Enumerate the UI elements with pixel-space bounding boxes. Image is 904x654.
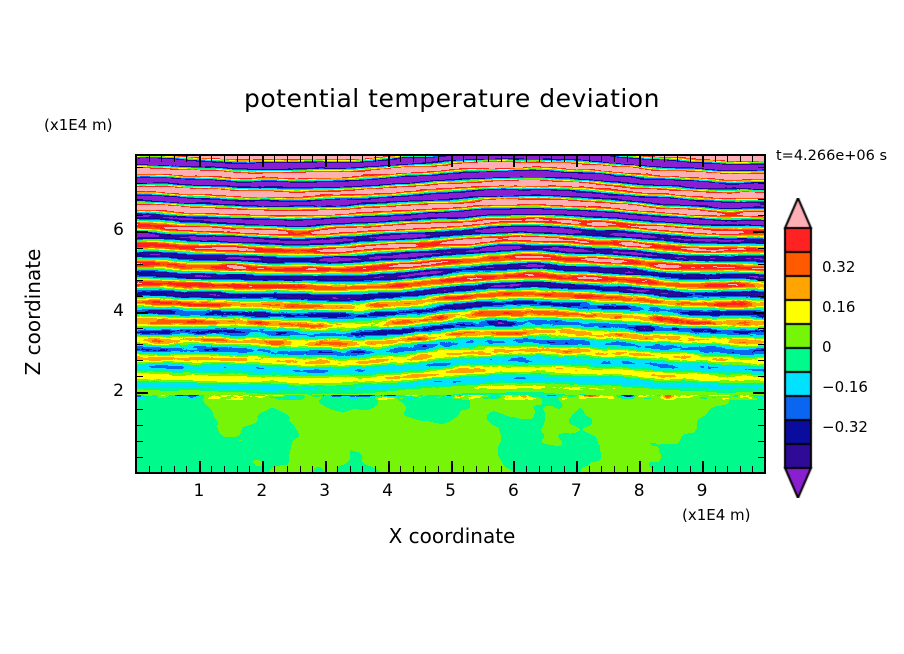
tick-mark bbox=[375, 155, 376, 162]
tick-mark bbox=[237, 466, 238, 473]
tick-mark bbox=[702, 155, 704, 167]
tick-mark bbox=[740, 466, 741, 473]
y-tick-label: 4 bbox=[94, 301, 124, 321]
x-tick-label: 7 bbox=[561, 481, 591, 501]
scalar-field-image bbox=[136, 155, 765, 473]
tick-mark bbox=[312, 155, 313, 162]
tick-mark bbox=[375, 466, 376, 473]
tick-mark bbox=[136, 312, 148, 314]
tick-mark bbox=[614, 155, 615, 162]
tick-mark bbox=[136, 344, 143, 345]
tick-mark bbox=[758, 248, 765, 249]
tick-mark bbox=[136, 183, 143, 184]
tick-mark bbox=[362, 466, 363, 473]
x-tick-label: 4 bbox=[373, 481, 403, 501]
x-axis-title: X coordinate bbox=[0, 524, 904, 548]
tick-mark bbox=[752, 466, 753, 473]
tick-mark bbox=[136, 409, 143, 410]
tick-mark bbox=[136, 473, 143, 474]
tick-mark bbox=[652, 155, 653, 162]
tick-mark bbox=[601, 155, 602, 162]
tick-mark bbox=[753, 231, 765, 233]
tick-mark bbox=[438, 466, 439, 473]
tick-mark bbox=[758, 328, 765, 329]
tick-mark bbox=[350, 155, 351, 162]
tick-mark bbox=[199, 461, 201, 473]
tick-mark bbox=[539, 155, 540, 162]
tick-mark bbox=[199, 155, 201, 167]
tick-mark bbox=[740, 155, 741, 162]
tick-mark bbox=[576, 461, 578, 473]
tick-mark bbox=[136, 248, 143, 249]
tick-mark bbox=[758, 167, 765, 168]
tick-mark bbox=[765, 466, 766, 473]
tick-mark bbox=[413, 466, 414, 473]
tick-mark bbox=[262, 155, 264, 167]
tick-mark bbox=[136, 466, 137, 473]
y-axis-title: Z coordinate bbox=[21, 232, 45, 392]
tick-mark bbox=[758, 441, 765, 442]
tick-mark bbox=[690, 155, 691, 162]
x-tick-label: 8 bbox=[624, 481, 654, 501]
tick-mark bbox=[161, 466, 162, 473]
tick-mark bbox=[614, 466, 615, 473]
tick-mark bbox=[136, 441, 143, 442]
tick-mark bbox=[136, 392, 148, 394]
tick-mark bbox=[174, 466, 175, 473]
tick-mark bbox=[337, 466, 338, 473]
tick-mark bbox=[136, 296, 143, 297]
tick-mark bbox=[136, 328, 143, 329]
tick-mark bbox=[752, 155, 753, 162]
tick-mark bbox=[136, 167, 143, 168]
x-tick-label: 2 bbox=[247, 481, 277, 501]
x-axis-unit-label: (x1E4 m) bbox=[682, 506, 751, 524]
tick-mark bbox=[136, 215, 143, 216]
tick-mark bbox=[463, 466, 464, 473]
tick-mark bbox=[652, 466, 653, 473]
tick-mark bbox=[488, 155, 489, 162]
tick-mark bbox=[601, 466, 602, 473]
tick-mark bbox=[425, 155, 426, 162]
tick-mark bbox=[249, 155, 250, 162]
tick-mark bbox=[413, 155, 414, 162]
tick-mark bbox=[136, 231, 148, 233]
tick-mark bbox=[758, 199, 765, 200]
y-tick-label: 2 bbox=[94, 381, 124, 401]
tick-mark bbox=[325, 155, 327, 167]
tick-mark bbox=[758, 264, 765, 265]
tick-mark bbox=[350, 466, 351, 473]
x-tick-label: 5 bbox=[436, 481, 466, 501]
x-tick-label: 1 bbox=[184, 481, 214, 501]
colorbar-label: −0.16 bbox=[822, 378, 868, 396]
tick-mark bbox=[664, 466, 665, 473]
tick-mark bbox=[161, 155, 162, 162]
tick-mark bbox=[438, 155, 439, 162]
tick-mark bbox=[337, 155, 338, 162]
tick-mark bbox=[564, 466, 565, 473]
tick-mark bbox=[513, 155, 515, 167]
tick-mark bbox=[539, 466, 540, 473]
tick-mark bbox=[388, 461, 390, 473]
tick-mark bbox=[451, 461, 453, 473]
tick-mark bbox=[758, 296, 765, 297]
tick-mark bbox=[758, 376, 765, 377]
tick-mark bbox=[758, 425, 765, 426]
tick-mark bbox=[753, 392, 765, 394]
tick-mark bbox=[727, 155, 728, 162]
tick-mark bbox=[758, 409, 765, 410]
y-axis-unit-label: (x1E4 m) bbox=[44, 116, 113, 134]
tick-mark bbox=[677, 155, 678, 162]
tick-mark bbox=[400, 155, 401, 162]
tick-mark bbox=[388, 155, 390, 167]
colorbar-label: 0 bbox=[822, 338, 832, 356]
colorbar-label: 0.16 bbox=[822, 298, 855, 316]
tick-mark bbox=[664, 155, 665, 162]
tick-mark bbox=[136, 376, 143, 377]
figure-canvas: potential temperature deviation (x1E4 m)… bbox=[0, 0, 904, 654]
colorbar-label: −0.32 bbox=[822, 418, 868, 436]
tick-mark bbox=[513, 461, 515, 473]
tick-mark bbox=[589, 155, 590, 162]
tick-mark bbox=[476, 155, 477, 162]
tick-mark bbox=[589, 466, 590, 473]
tick-mark bbox=[362, 155, 363, 162]
tick-mark bbox=[753, 312, 765, 314]
colorbar-label: 0.32 bbox=[822, 258, 855, 276]
tick-mark bbox=[174, 155, 175, 162]
x-tick-label: 3 bbox=[310, 481, 340, 501]
tick-mark bbox=[702, 461, 704, 473]
tick-mark bbox=[400, 466, 401, 473]
tick-mark bbox=[627, 466, 628, 473]
tick-mark bbox=[136, 457, 143, 458]
tick-mark bbox=[237, 155, 238, 162]
tick-mark bbox=[287, 466, 288, 473]
tick-mark bbox=[758, 473, 765, 474]
tick-mark bbox=[224, 155, 225, 162]
tick-mark bbox=[576, 155, 578, 167]
tick-mark bbox=[690, 466, 691, 473]
x-tick-label: 9 bbox=[687, 481, 717, 501]
tick-mark bbox=[136, 280, 143, 281]
tick-mark bbox=[136, 425, 143, 426]
tick-mark bbox=[274, 466, 275, 473]
colorbar bbox=[783, 198, 813, 498]
tick-mark bbox=[262, 461, 264, 473]
tick-mark bbox=[463, 155, 464, 162]
tick-mark bbox=[758, 183, 765, 184]
tick-mark bbox=[325, 461, 327, 473]
tick-mark bbox=[136, 264, 143, 265]
tick-mark bbox=[758, 457, 765, 458]
tick-mark bbox=[758, 280, 765, 281]
tick-mark bbox=[287, 155, 288, 162]
tick-mark bbox=[300, 466, 301, 473]
tick-mark bbox=[727, 466, 728, 473]
timestamp-annotation: t=4.266e+06 s bbox=[776, 148, 887, 164]
tick-mark bbox=[136, 199, 143, 200]
contour-plot-area bbox=[136, 155, 765, 473]
tick-mark bbox=[758, 360, 765, 361]
tick-mark bbox=[312, 466, 313, 473]
tick-mark bbox=[186, 155, 187, 162]
tick-mark bbox=[425, 466, 426, 473]
y-tick-label: 6 bbox=[94, 220, 124, 240]
tick-mark bbox=[715, 466, 716, 473]
tick-mark bbox=[526, 466, 527, 473]
tick-mark bbox=[224, 466, 225, 473]
tick-mark bbox=[186, 466, 187, 473]
tick-mark bbox=[715, 155, 716, 162]
tick-mark bbox=[249, 466, 250, 473]
tick-mark bbox=[451, 155, 453, 167]
tick-mark bbox=[639, 155, 641, 167]
tick-mark bbox=[564, 155, 565, 162]
tick-mark bbox=[149, 466, 150, 473]
tick-mark bbox=[501, 155, 502, 162]
tick-mark bbox=[758, 215, 765, 216]
colorbar-swatches bbox=[783, 198, 813, 498]
tick-mark bbox=[765, 155, 766, 162]
tick-mark bbox=[211, 466, 212, 473]
x-tick-label: 6 bbox=[498, 481, 528, 501]
page-title: potential temperature deviation bbox=[0, 84, 904, 113]
tick-mark bbox=[551, 155, 552, 162]
tick-mark bbox=[488, 466, 489, 473]
tick-mark bbox=[211, 155, 212, 162]
tick-mark bbox=[551, 466, 552, 473]
tick-mark bbox=[476, 466, 477, 473]
tick-mark bbox=[149, 155, 150, 162]
tick-mark bbox=[677, 466, 678, 473]
tick-mark bbox=[627, 155, 628, 162]
tick-mark bbox=[300, 155, 301, 162]
tick-mark bbox=[136, 360, 143, 361]
tick-mark bbox=[136, 155, 137, 162]
tick-mark bbox=[501, 466, 502, 473]
tick-mark bbox=[758, 344, 765, 345]
tick-mark bbox=[639, 461, 641, 473]
tick-mark bbox=[274, 155, 275, 162]
tick-mark bbox=[526, 155, 527, 162]
